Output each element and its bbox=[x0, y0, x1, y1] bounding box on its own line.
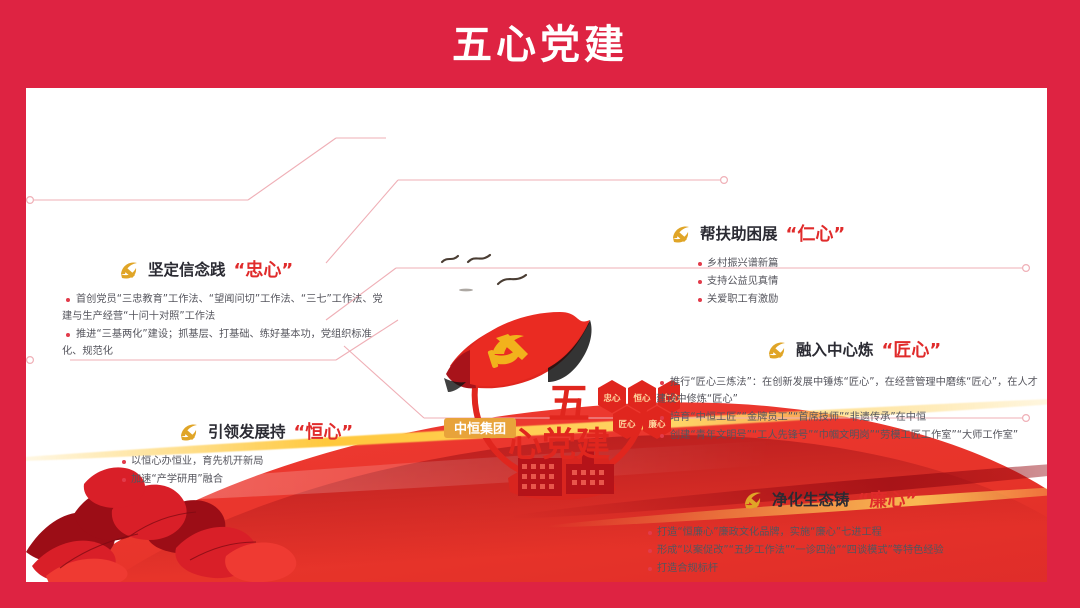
list-item-text: 首创党员“三忠教育”工作法、“望闻问切”工作法、“三七”工作法、党建与生产经营“… bbox=[62, 294, 383, 322]
logo-line1: 五 bbox=[548, 379, 590, 428]
block-zhongxin-accent: “忠心” bbox=[234, 256, 294, 282]
block-jiangxin-title: 融入中心炼 bbox=[796, 338, 874, 360]
bullet-dot bbox=[660, 434, 664, 438]
logo-line2: 心党建 bbox=[508, 425, 610, 465]
block-hengxin-body: 以恒心办恒业，育先机开新局 加速“产学研用”融合 bbox=[104, 453, 404, 488]
list-item-text: 形成“以案促改”“五步工作法”“一诊四治”“四谈模式”等特色经验 bbox=[657, 545, 944, 556]
list-item-text: 打造合规标杆 bbox=[657, 563, 718, 574]
list-item: 支持公益见真情 bbox=[694, 273, 980, 290]
org-badge-label: 中恒集团 bbox=[454, 421, 506, 437]
block-renxin: 帮扶助困展 “仁心” 乡村振兴谱新篇 支持公益见真情 关爱职工有激励 bbox=[670, 220, 980, 309]
bullet-dot bbox=[660, 381, 664, 385]
list-item: 关爱职工有激励 bbox=[694, 291, 980, 308]
block-zhongxin-header: 坚定信念践 “忠心” bbox=[62, 256, 392, 282]
hex-tag-恒心: 恒心 bbox=[628, 380, 656, 413]
svg-text:匠心: 匠心 bbox=[618, 419, 636, 430]
party-emblem-icon bbox=[118, 259, 140, 279]
svg-text:忠心: 忠心 bbox=[603, 393, 621, 404]
block-zhongxin: 坚定信念践 “忠心” 首创党员“三忠教育”工作法、“望闻问切”工作法、“三七”工… bbox=[62, 256, 392, 361]
svg-text:恒心: 恒心 bbox=[633, 393, 651, 404]
bullet-dot bbox=[122, 460, 126, 464]
list-item-text: 支持公益见真情 bbox=[707, 276, 778, 287]
list-item-text: 推行“匠心三炼法”：在创新发展中锤炼“匠心”，在经营管理中磨练“匠心”，在人才建… bbox=[656, 377, 1038, 405]
block-renxin-body: 乡村振兴谱新篇 支持公益见真情 关爱职工有激励 bbox=[670, 255, 980, 308]
block-lianxin-accent: “廉心” bbox=[858, 486, 918, 512]
block-lianxin-title: 净化生态铸 bbox=[772, 488, 850, 510]
bullet-dot bbox=[698, 298, 702, 302]
list-item-text: 加速“产学研用”融合 bbox=[131, 474, 223, 485]
bullet-dot bbox=[698, 262, 702, 266]
bullet-dot bbox=[648, 549, 652, 553]
block-zhongxin-body: 首创党员“三忠教育”工作法、“望闻问切”工作法、“三七”工作法、党建与生产经营“… bbox=[62, 291, 392, 360]
bullet-dot bbox=[648, 531, 652, 535]
list-item-text: 乡村振兴谱新篇 bbox=[707, 258, 778, 269]
block-hengxin-accent: “恒心” bbox=[294, 418, 354, 444]
block-renxin-accent: “仁心” bbox=[786, 220, 846, 246]
bullet-dot bbox=[698, 280, 702, 284]
block-hengxin-header: 引领发展持 “恒心” bbox=[104, 418, 404, 444]
list-item: 推行“匠心三炼法”：在创新发展中锤炼“匠心”，在经营管理中磨练“匠心”，在人才建… bbox=[656, 374, 1044, 408]
list-item: 首创党员“三忠教育”工作法、“望闻问切”工作法、“三七”工作法、党建与生产经营“… bbox=[62, 291, 392, 325]
bullet-dot bbox=[122, 478, 126, 482]
bullet-dot bbox=[66, 298, 70, 302]
block-hengxin-title: 引领发展持 bbox=[208, 420, 286, 442]
org-badge-shape: 中恒集团 bbox=[444, 418, 516, 438]
block-zhongxin-title: 坚定信念践 bbox=[148, 258, 226, 280]
page-title: 五心党建 bbox=[0, 12, 1080, 70]
list-item: 打造合规标杆 bbox=[644, 560, 1044, 577]
list-item: 创建“青年文明号”“工人先锋号”“巾帼文明岗”“劳模工匠工作室”“大师工作室” bbox=[656, 427, 1044, 444]
list-item: 加速“产学研用”融合 bbox=[118, 471, 404, 488]
bullet-dot bbox=[648, 567, 652, 571]
block-lianxin-header: 净化生态铸 “廉心” bbox=[644, 486, 1044, 512]
block-renxin-title: 帮扶助困展 bbox=[700, 222, 778, 244]
poster-canvas: 五心党建 bbox=[0, 0, 1080, 608]
block-jiangxin-accent: “匠心” bbox=[882, 336, 942, 362]
list-item-text: 打造“恒廉心”廉政文化品牌，实施“廉心”七进工程 bbox=[657, 527, 882, 538]
list-item-text: 培育“中恒工匠”“金牌员工”“首席技师”“非遗传承”在中恒 bbox=[670, 412, 926, 423]
list-item-text: 关爱职工有激励 bbox=[707, 294, 778, 305]
block-lianxin-body: 打造“恒廉心”廉政文化品牌，实施“廉心”七进工程 形成“以案促改”“五步工作法”… bbox=[644, 524, 1044, 577]
list-item: 培育“中恒工匠”“金牌员工”“首席技师”“非遗传承”在中恒 bbox=[656, 409, 1044, 426]
block-jiangxin: 融入中心炼 “匠心” 推行“匠心三炼法”：在创新发展中锤炼“匠心”，在经营管理中… bbox=[656, 336, 1044, 445]
party-emblem-icon bbox=[766, 339, 788, 359]
list-item: 打造“恒廉心”廉政文化品牌，实施“廉心”七进工程 bbox=[644, 524, 1044, 541]
block-hengxin: 引领发展持 “恒心” 以恒心办恒业，育先机开新局 加速“产学研用”融合 bbox=[104, 418, 404, 489]
list-item-text: 推进“三基两化”建设；抓基层、打基础、练好基本功，党组织标准化、规范化 bbox=[62, 329, 372, 357]
block-jiangxin-header: 融入中心炼 “匠心” bbox=[656, 336, 1044, 362]
central-emblem: 中恒集团 bbox=[430, 292, 680, 524]
bullet-dot bbox=[66, 333, 70, 337]
list-item-text: 以恒心办恒业，育先机开新局 bbox=[131, 456, 263, 467]
list-item: 推进“三基两化”建设；抓基层、打基础、练好基本功，党组织标准化、规范化 bbox=[62, 326, 392, 360]
party-emblem-icon bbox=[670, 223, 692, 243]
list-item: 以恒心办恒业，育先机开新局 bbox=[118, 453, 404, 470]
party-emblem-icon bbox=[178, 421, 200, 441]
block-lianxin: 净化生态铸 “廉心” 打造“恒廉心”廉政文化品牌，实施“廉心”七进工程 形成“以… bbox=[644, 486, 1044, 578]
list-item-text: 创建“青年文明号”“工人先锋号”“巾帼文明岗”“劳模工匠工作室”“大师工作室” bbox=[670, 430, 1018, 441]
block-jiangxin-body: 推行“匠心三炼法”：在创新发展中锤炼“匠心”，在经营管理中磨练“匠心”，在人才建… bbox=[656, 374, 1044, 444]
bullet-dot bbox=[660, 416, 664, 420]
content-panel: 中恒集团 bbox=[26, 88, 1047, 582]
party-emblem-icon bbox=[742, 489, 764, 509]
list-item: 形成“以案促改”“五步工作法”“一诊四治”“四谈模式”等特色经验 bbox=[644, 542, 1044, 559]
list-item: 乡村振兴谱新篇 bbox=[694, 255, 980, 272]
block-renxin-header: 帮扶助困展 “仁心” bbox=[670, 220, 980, 246]
hex-tag-忠心: 忠心 bbox=[598, 380, 626, 413]
